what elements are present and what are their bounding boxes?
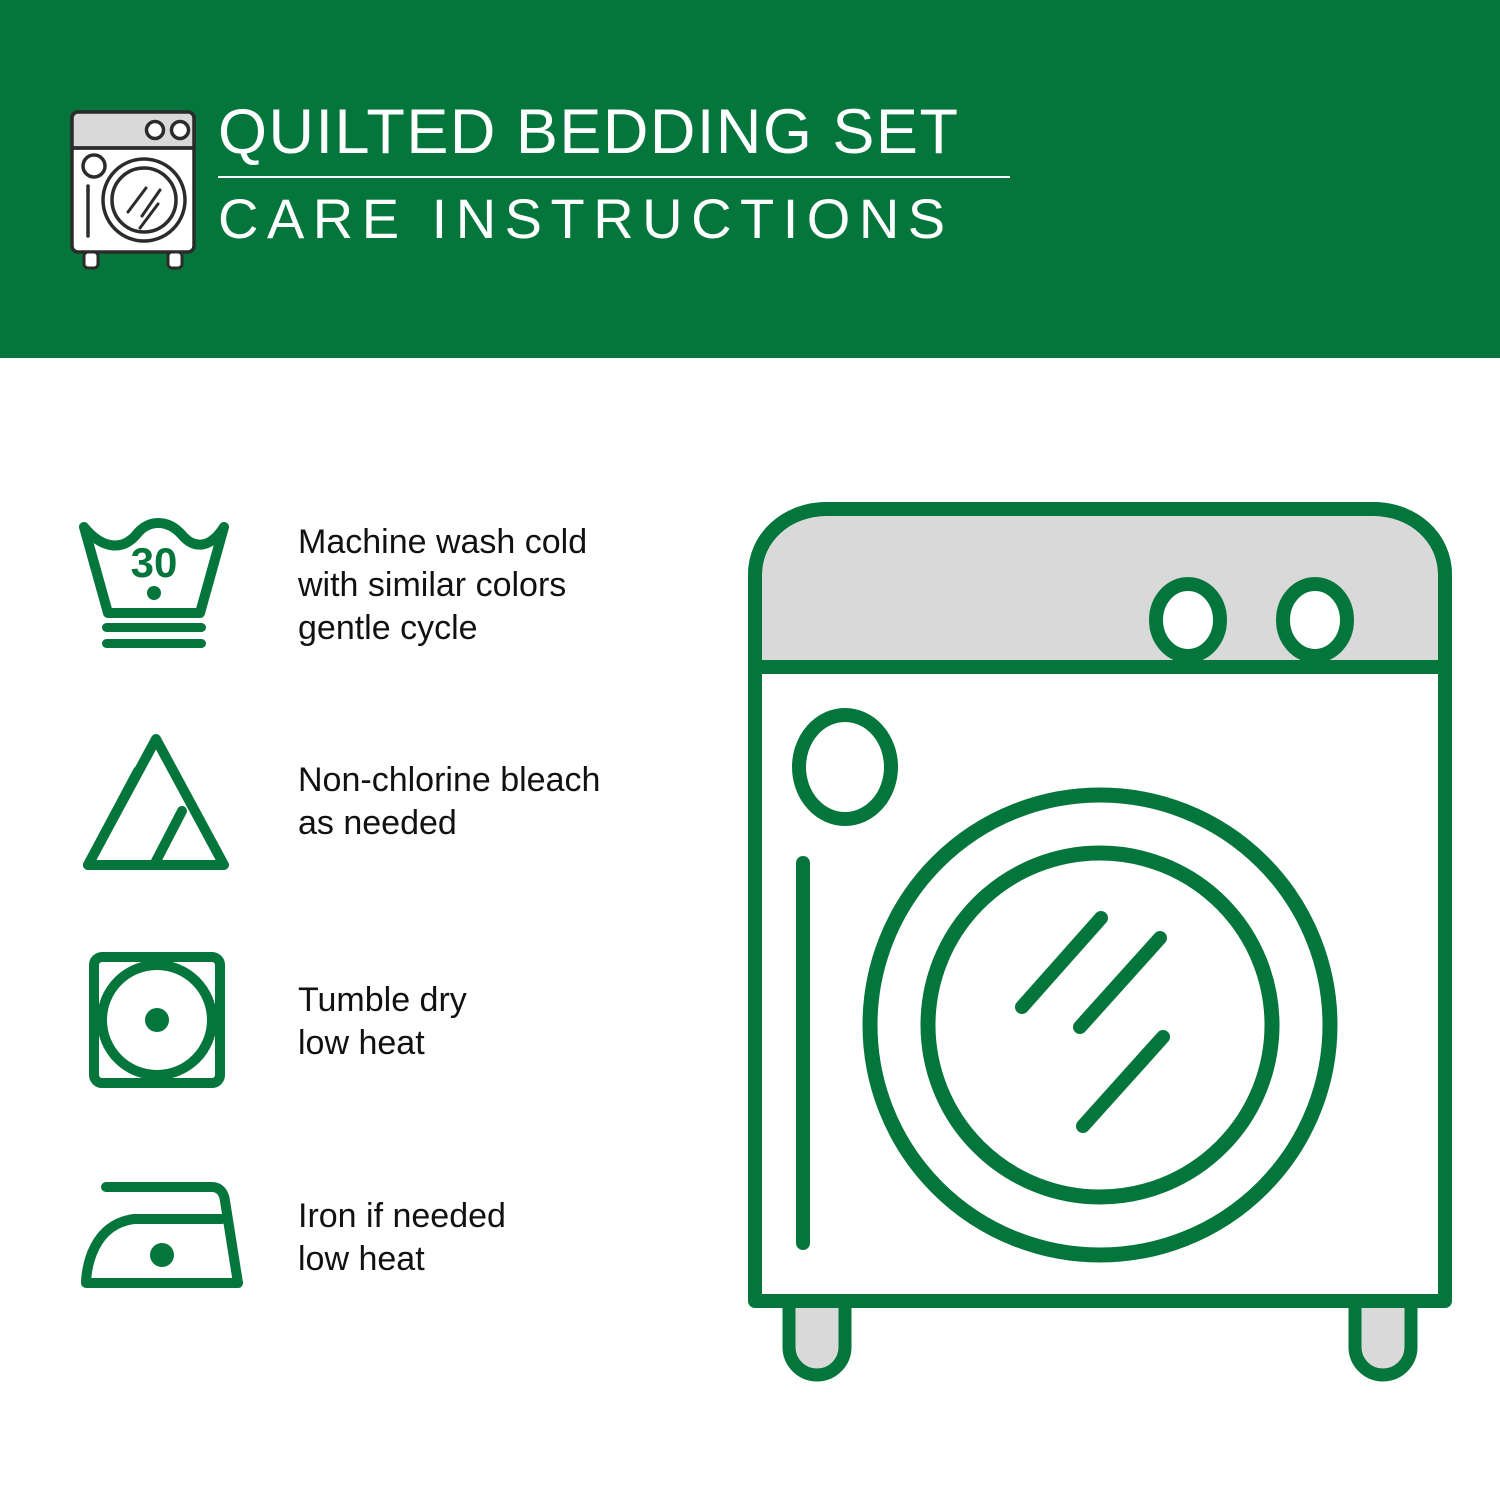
washing-machine-icon: [62, 104, 210, 272]
care-instructions-page: QUILTED BEDDING SET CARE INSTRUCTIONS 30: [0, 0, 1500, 1500]
bleach-triangle-non-chlorine-icon: [72, 725, 242, 875]
care-instructions-list: 30 Machine wash cold with similar colors…: [60, 505, 700, 1385]
header-text-block: QUILTED BEDDING SET CARE INSTRUCTIONS: [218, 96, 1018, 252]
detergent-port: [799, 715, 891, 819]
wash-temperature-value: 30: [131, 539, 178, 586]
care-label-bleach: Non-chlorine bleach as needed: [298, 759, 600, 845]
title-divider: [218, 176, 1010, 178]
tumble-dry-low-heat-icon: [72, 945, 242, 1095]
wash-tub-30-gentle-icon: 30: [72, 505, 242, 655]
care-row-bleach: Non-chlorine bleach as needed: [60, 725, 700, 945]
care-label-iron: Iron if needed low heat: [298, 1195, 506, 1281]
iron-low-heat-icon: [72, 1165, 242, 1315]
care-label-tumble-dry: Tumble dry low heat: [298, 979, 467, 1065]
header-band: QUILTED BEDDING SET CARE INSTRUCTIONS: [0, 0, 1500, 358]
front-load-washing-machine-illustration: [745, 495, 1455, 1425]
knob-right: [1283, 584, 1347, 656]
care-label-machine-wash: Machine wash cold with similar colors ge…: [298, 521, 587, 650]
page-subtitle: CARE INSTRUCTIONS: [218, 186, 1018, 252]
door-inner-ring: [928, 853, 1272, 1197]
care-row-iron: Iron if needed low heat: [60, 1165, 700, 1385]
knob-left: [1156, 584, 1220, 656]
care-row-machine-wash: 30 Machine wash cold with similar colors…: [60, 505, 700, 725]
page-title: QUILTED BEDDING SET: [218, 96, 1018, 168]
care-row-tumble-dry: Tumble dry low heat: [60, 945, 700, 1165]
